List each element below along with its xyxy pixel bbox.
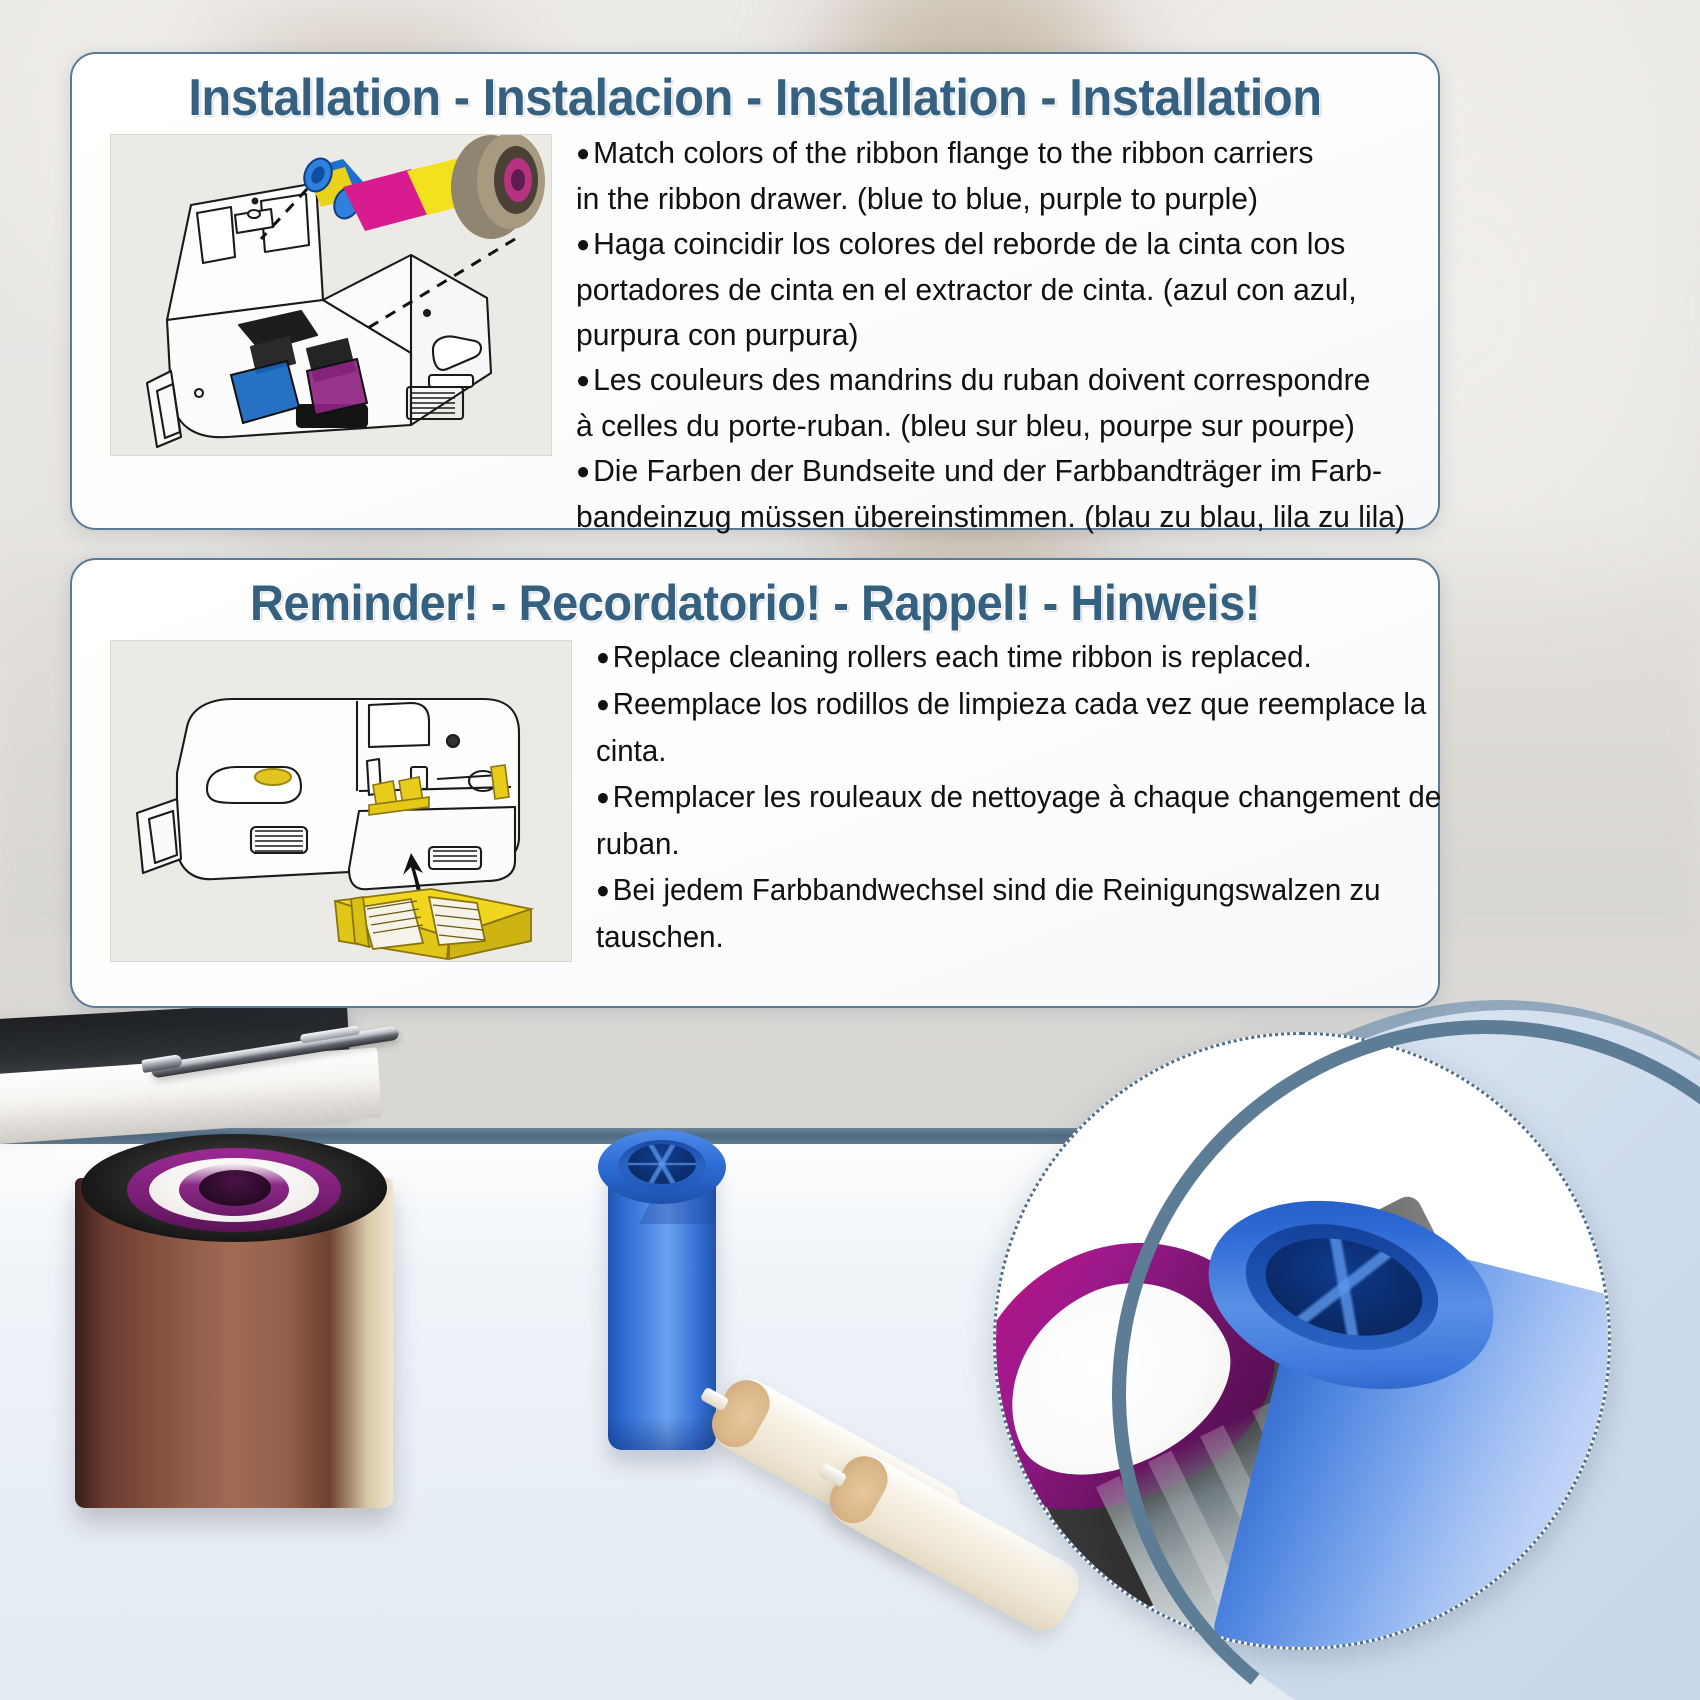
reminder-card: Reminder! - Recordatorio! - Rappel! - Hi…: [70, 558, 1440, 1008]
printer-ribbon-loading-diagram: [110, 134, 552, 456]
ribbon-spool-blue: [598, 1100, 726, 1460]
spool-spokes: [628, 1144, 696, 1184]
installation-body: Match colors of the ribbon flange to the…: [72, 128, 1438, 539]
printer-cleaning-roller-cartridge-diagram: [110, 640, 572, 962]
poster-canvas: Installation - Instalacion - Installatio…: [0, 0, 1700, 1700]
installation-text: Match colors of the ribbon flange to the…: [566, 128, 1431, 539]
install-es-l1: Haga coincidir los colores del reborde d…: [576, 221, 1405, 267]
reminder-fr-l2: ruban.: [596, 821, 1441, 867]
ribbon-core-hole: [199, 1170, 271, 1206]
reminder-text: Replace cleaning rollers each time ribbo…: [586, 632, 1486, 962]
install-fr-l2: à celles du porte-ruban. (bleu sur bleu,…: [576, 403, 1405, 448]
reminder-es-l1: Reemplace los rodillos de limpieza cada …: [596, 681, 1441, 728]
install-es-l2: portadores de cinta en el extractor de c…: [576, 267, 1405, 312]
reminder-body: Replace cleaning rollers each time ribbo…: [72, 632, 1438, 962]
reminder-de-l1: Bei jedem Farbbandwechsel sind die Reini…: [596, 867, 1441, 914]
install-fr-l1: Les couleurs des mandrins du ruban doive…: [576, 357, 1405, 403]
reminder-title: Reminder! - Recordatorio! - Rappel! - Hi…: [113, 560, 1397, 632]
reminder-de-l2: tauschen.: [596, 914, 1441, 960]
reminder-fr-l1: Remplacer les rouleaux de nettoyage à ch…: [596, 774, 1441, 821]
ribbon-roll-purple-flange: [75, 1118, 393, 1518]
installation-title: Installation - Instalacion - Installatio…: [113, 54, 1397, 128]
install-de-l2: bandeinzug müssen übereinstimmen. (blau …: [576, 494, 1405, 539]
install-en-l1: Match colors of the ribbon flange to the…: [576, 130, 1405, 176]
installation-card: Installation - Instalacion - Installatio…: [70, 52, 1440, 530]
reminder-es-l2: cinta.: [596, 728, 1441, 774]
install-en-l2: in the ribbon drawer. (blue to blue, pur…: [576, 176, 1405, 221]
install-es-l3: purpura con purpura): [576, 312, 1405, 357]
install-de-l1: Die Farben der Bundseite und der Farbban…: [576, 448, 1405, 494]
reminder-en-l1: Replace cleaning rollers each time ribbo…: [596, 634, 1441, 681]
